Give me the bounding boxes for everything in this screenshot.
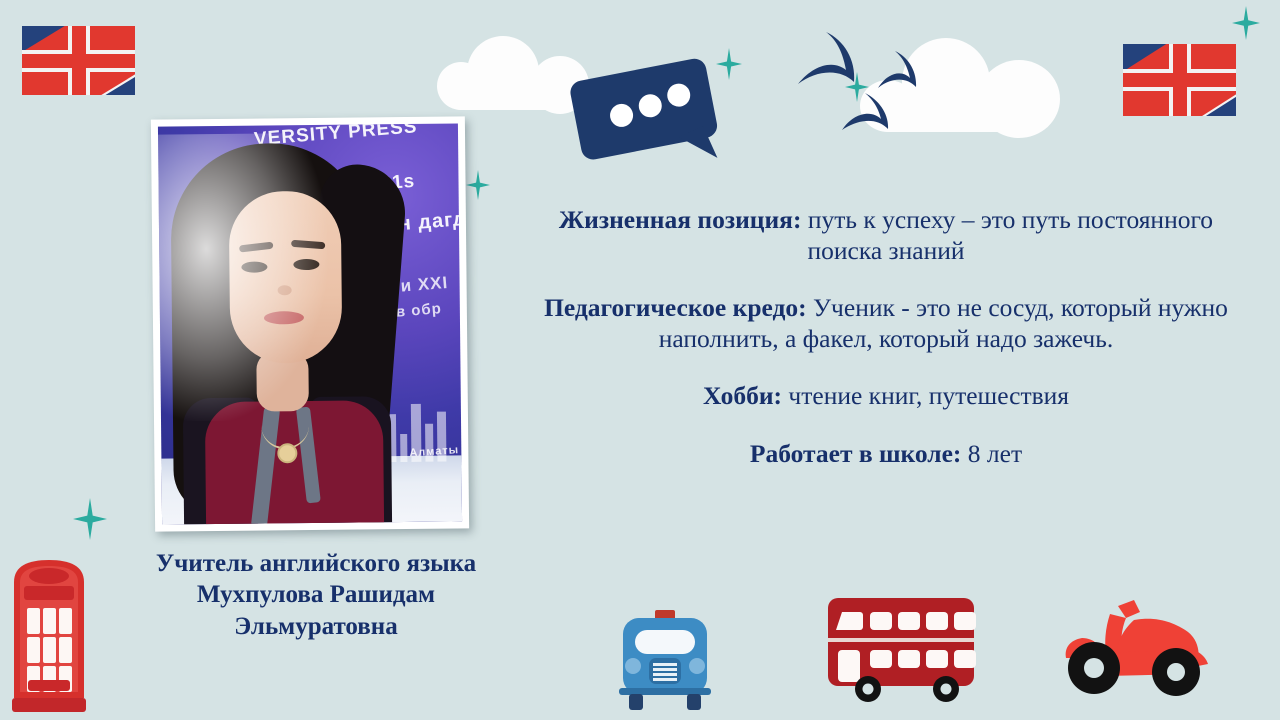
value-life-position: путь к успеху – это путь постоянного пои… [801,205,1213,265]
info-paragraph-life-position: Жизненная позиция: путь к успеху – это п… [530,204,1242,266]
info-paragraph-credo: Педагогическое кредо: Ученик - это не со… [530,292,1242,354]
caption-line-name: Мухпулова Рашидам [66,579,566,610]
blue-taxi-icon [611,608,719,712]
slide-canvas: VERSITY PRESS 21s дын дагд ыми XXI в обр… [0,0,1280,720]
label-credo: Педагогическое кредо: [544,293,807,322]
caption-line-role: Учитель английского языка [66,548,566,579]
photo-banner-line5: в обр [395,300,442,321]
red-scooter-icon [1048,592,1212,708]
info-paragraph-hobby: Хобби: чтение книг, путешествия [530,380,1242,411]
value-experience: 8 лет [961,439,1022,468]
birds-icon [790,24,960,134]
red-telephone-box-icon [8,558,90,720]
value-hobby: чтение книг, путешествия [782,381,1069,410]
label-hobby: Хобби: [703,381,782,410]
sparkle-icon-5 [73,498,107,540]
label-life-position: Жизненная позиция: [559,205,802,234]
photo-person-face [229,191,343,364]
sparkle-icon-3 [1232,6,1260,40]
speech-bubble-icon [570,58,730,173]
photo-person-pendant [277,443,297,463]
teacher-photo: VERSITY PRESS 21s дын дагд ыми XXI в обр… [158,123,462,524]
sparkle-icon-4 [466,170,490,200]
label-experience: Работает в школе: [750,439,962,468]
union-jack-flag-left [22,26,135,95]
info-paragraph-experience: Работает в школе: 8 лет [530,438,1242,469]
cloud-icon-left [437,36,589,102]
double-decker-bus-icon [820,590,980,710]
caption-line-patronymic: Эльмуратовна [66,611,566,642]
info-text-column: Жизненная позиция: путь к успеху – это п… [530,204,1242,469]
teacher-caption: Учитель английского языка Мухпулова Раши… [66,548,566,642]
union-jack-flag-right [1123,44,1236,116]
teacher-photo-frame: VERSITY PRESS 21s дын дагд ыми XXI в обр… [151,116,469,531]
